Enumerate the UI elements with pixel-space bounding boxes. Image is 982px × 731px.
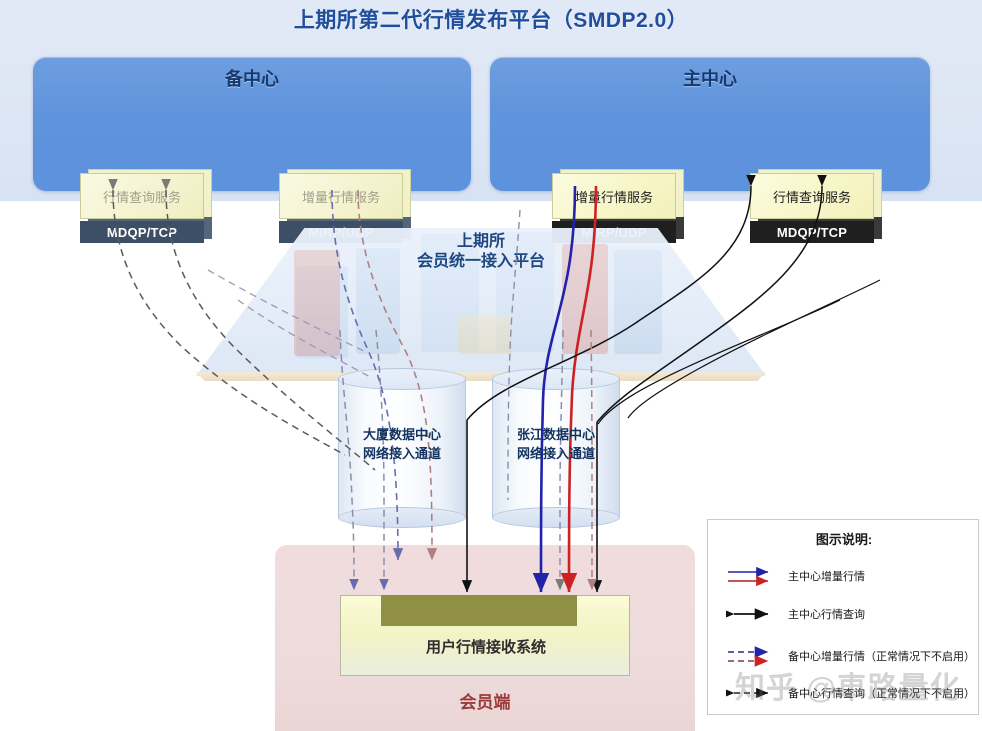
channel-label: 大厦数据中心 网络接入通道 — [338, 426, 466, 464]
legend-entry-main-incremental: 主中心增量行情 — [726, 563, 976, 589]
channel-label-line1: 大厦数据中心 — [363, 427, 441, 442]
channel-label: 张江数据中心 网络接入通道 — [492, 426, 620, 464]
legend-sample-solid-double — [726, 563, 776, 589]
diagram-canvas: 上期所第二代行情发布平台（SMDP2.0） 备中心 行情查询服务 MDQP/TC… — [0, 0, 982, 731]
legend-label: 备中心增量行情（正常情况下不启用） — [788, 648, 975, 664]
channel-label-line2: 网络接入通道 — [517, 446, 595, 461]
channel-label-line1: 张江数据中心 — [517, 427, 595, 442]
legend-entry-main-query: 主中心行情查询 — [726, 601, 976, 627]
channel-label-line2: 网络接入通道 — [363, 446, 441, 461]
legend-entry-backup-incremental: 备中心增量行情（正常情况下不启用） — [726, 643, 976, 669]
legend-title: 图示说明: — [708, 529, 980, 548]
legend-label: 主中心行情查询 — [788, 606, 865, 622]
watermark: 知乎 @車路量化 — [735, 668, 980, 710]
flow-main-incremental — [541, 186, 596, 592]
flow-backup-incremental — [332, 190, 432, 590]
legend-sample-dashed-double — [726, 643, 776, 669]
legend-label: 主中心增量行情 — [788, 568, 865, 584]
legend-sample-solid-bidirectional — [726, 601, 776, 627]
